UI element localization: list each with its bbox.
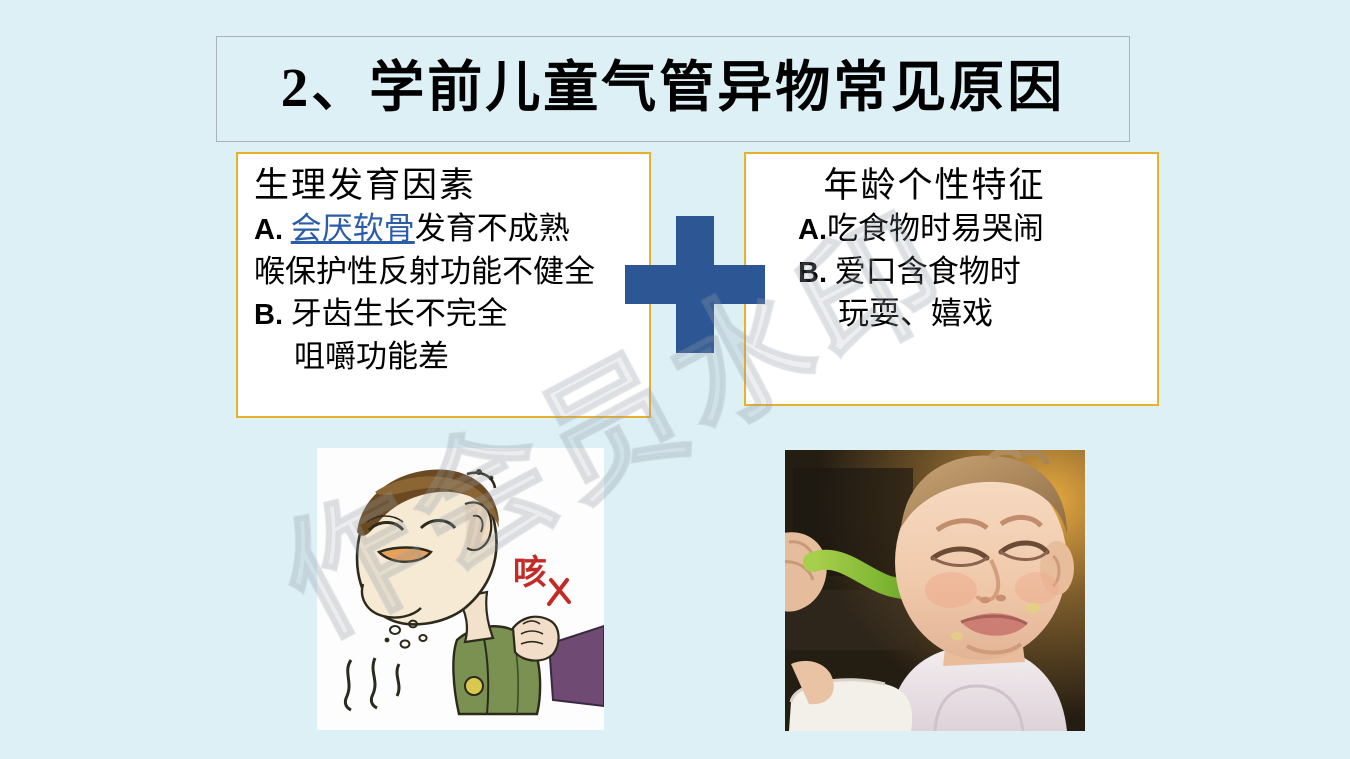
list-marker: B. [798,257,827,289]
left-box-line-3: B. 牙齿生长不完全 [254,293,633,336]
left-box-heading: 生理发育因素 [254,164,633,208]
crying-baby-feeding-image [785,450,1085,731]
photo-illustration [785,450,1085,731]
right-box-line-3-text: 玩耍、嬉戏 [838,296,993,331]
cartoon-illustration: 咳 [317,448,604,730]
left-factor-box: 生理发育因素 A. 会厌软骨发育不成熟 喉保护性反射功能不健全 B. 牙齿生长不… [236,152,651,418]
left-box-line-4-text: 咀嚼功能差 [294,339,449,374]
right-box-line-2-text: 爱口含食物时 [835,254,1021,289]
right-box-heading: 年龄个性特征 [762,164,1141,208]
list-marker: B. [254,299,283,331]
left-box-line-1-text: 发育不成熟 [415,211,570,246]
right-box-line-1-text: 吃食物时易哭闹 [827,211,1044,246]
list-marker: A. [254,214,283,246]
epiglottis-link[interactable]: 会厌软骨 [291,211,415,246]
left-box-line-1: A. 会厌软骨发育不成熟 [254,208,633,251]
list-marker: A. [798,214,827,246]
right-box-content: 年龄个性特征 A.吃食物时易哭闹 B. 爱口含食物时 玩耍、嬉戏 [746,154,1157,336]
left-box-line-4: 咀嚼功能差 [254,336,633,379]
right-box-line-1: A.吃食物时易哭闹 [762,208,1141,251]
coughing-child-cartoon-image: 咳 [317,448,604,730]
left-box-line-2-text: 喉保护性反射功能不健全 [254,254,595,289]
left-box-content: 生理发育因素 A. 会厌软骨发育不成熟 喉保护性反射功能不健全 B. 牙齿生长不… [238,154,649,379]
left-box-line-2: 喉保护性反射功能不健全 [254,251,633,294]
page-title: 2、学前儿童气管异物常见原因 [281,60,1066,119]
right-factor-box: 年龄个性特征 A.吃食物时易哭闹 B. 爱口含食物时 玩耍、嬉戏 [744,152,1159,406]
plus-sign-icon [625,216,765,353]
right-box-line-3: 玩耍、嬉戏 [762,293,1141,336]
left-box-line-3-text: 牙齿生长不完全 [291,296,508,331]
svg-text:咳: 咳 [513,554,547,592]
title-box: 2、学前儿童气管异物常见原因 [216,36,1130,142]
right-box-line-2: B. 爱口含食物时 [762,251,1141,294]
slide-canvas: 2、学前儿童气管异物常见原因 生理发育因素 A. 会厌软骨发育不成熟 喉保护性反… [0,0,1350,759]
plus-vertical-bar [676,216,714,353]
